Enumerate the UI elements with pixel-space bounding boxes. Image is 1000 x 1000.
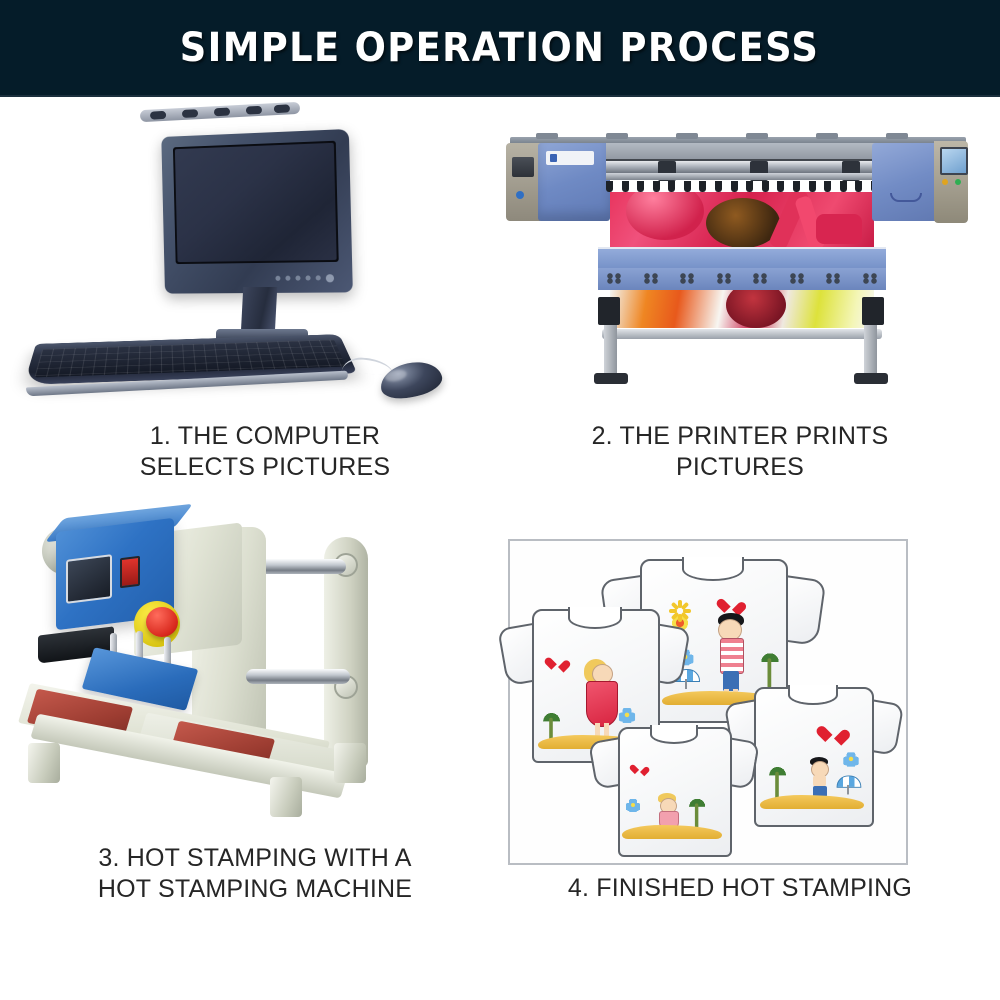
printed-tshirts-photo [508, 539, 908, 865]
printer-left-indicator [516, 191, 524, 199]
step-4-finished-shirts: 4. FINISHED HOT STAMPING [500, 535, 980, 950]
tshirt-right-umbrella [837, 775, 860, 792]
step-2-caption-line-2: PICTURES [500, 452, 980, 483]
tshirt-right-flower [843, 752, 858, 766]
step-4-caption-line-1: 4. FINISHED HOT STAMPING [500, 873, 980, 904]
step-3-caption: 3. HOT STAMPING WITH A HOT STAMPING MACH… [20, 843, 490, 904]
printer-carriage-rail [606, 159, 878, 173]
printer-tension-block-right [862, 297, 884, 325]
infographic-page: SIMPLE OPERATION PROCESS [0, 0, 1000, 1000]
step-1-caption: 1. THE COMPUTER SELECTS PICTURES [20, 421, 500, 482]
tshirt-large-neckline [682, 557, 744, 581]
printer-right-cover [872, 143, 938, 221]
printer-printed-media-upper [610, 192, 874, 248]
tshirt-right [740, 683, 888, 833]
monitor-buttons [244, 273, 334, 283]
press-emergency-stop-button[interactable] [146, 607, 178, 637]
step-4-image [500, 535, 980, 865]
press-display-screen[interactable] [66, 554, 112, 604]
step-1-caption-line-1: 1. THE COMPUTER [30, 421, 500, 452]
tshirt-bottom-flower [626, 799, 640, 812]
monitor-stand-neck [241, 287, 278, 335]
step-2-caption: 2. THE PRINTER PRINTS PICTURES [500, 421, 980, 482]
boy-shorts [723, 671, 739, 691]
press-foot-right [334, 743, 366, 783]
tshirt-large-heart [723, 596, 741, 613]
tshirt-bottom-heart [634, 763, 646, 774]
printed-shape-5 [816, 214, 862, 244]
step-2-caption-line-1: 2. THE PRINTER PRINTS [500, 421, 980, 452]
tshirt-bottom [604, 723, 744, 859]
tshirt-left-heart [550, 655, 566, 669]
tshirt-right-heart [824, 723, 844, 742]
printer-control-panel-screen[interactable] [940, 147, 968, 175]
step-3-heat-press: 3. HOT STAMPING WITH A HOT STAMPING MACH… [20, 495, 490, 950]
page-title: SIMPLE OPERATION PROCESS [180, 25, 819, 71]
printer-printed-media-lower [610, 290, 874, 328]
tshirt-left-flower [619, 708, 635, 723]
boy-striped-shirt [720, 638, 744, 674]
step-1-image [20, 115, 490, 415]
wide-format-printer-photo [506, 137, 972, 387]
monitor-screen [175, 143, 337, 262]
printer-lower-rail [606, 173, 878, 180]
printer-dryer-fans [606, 272, 878, 286]
steps-grid: 1. THE COMPUTER SELECTS PICTURES [0, 95, 1000, 1000]
press-foot-front [270, 777, 302, 817]
printer-take-up-bar [602, 329, 882, 339]
step-3-image [20, 495, 490, 835]
step-2-printer: 2. THE PRINTER PRINTS PICTURES [500, 115, 980, 520]
press-power-switch[interactable] [120, 556, 140, 588]
printed-shape-6 [726, 290, 786, 328]
printer-logo [546, 151, 594, 165]
step-2-image [500, 115, 980, 415]
step-1-caption-line-2: SELECTS PICTURES [30, 452, 500, 483]
page-header: SIMPLE OPERATION PROCESS [0, 0, 1000, 97]
mouse-icon [377, 357, 445, 403]
keyboard-keys [34, 340, 346, 378]
step-3-caption-line-1: 3. HOT STAMPING WITH A [20, 843, 490, 874]
step-1-computer: 1. THE COMPUTER SELECTS PICTURES [20, 115, 490, 520]
girl-dress [586, 681, 618, 727]
step-4-caption: 4. FINISHED HOT STAMPING [500, 873, 980, 904]
monitor-icon [161, 129, 353, 294]
tshirt-bottom-neckline [650, 725, 698, 744]
keyboard-media-keys [140, 102, 300, 122]
printed-shape-1 [626, 192, 704, 240]
printer-tension-block-left [598, 297, 620, 325]
heat-press-machine-photo [24, 505, 486, 845]
monitor-bezel [173, 141, 339, 264]
printer-caster-left [594, 373, 628, 384]
printer-control-panel-buttons[interactable] [940, 175, 964, 195]
desktop-computer-photo [20, 115, 490, 415]
press-foot-left [28, 743, 60, 783]
step-3-caption-line-2: HOT STAMPING MACHINE [20, 874, 490, 905]
tshirt-left-neckline [568, 607, 622, 629]
printer-caster-right [854, 373, 888, 384]
press-cylinder-rod-bottom [246, 669, 350, 684]
tshirt-right-neckline [788, 685, 838, 705]
printer-left-panel [512, 157, 534, 177]
